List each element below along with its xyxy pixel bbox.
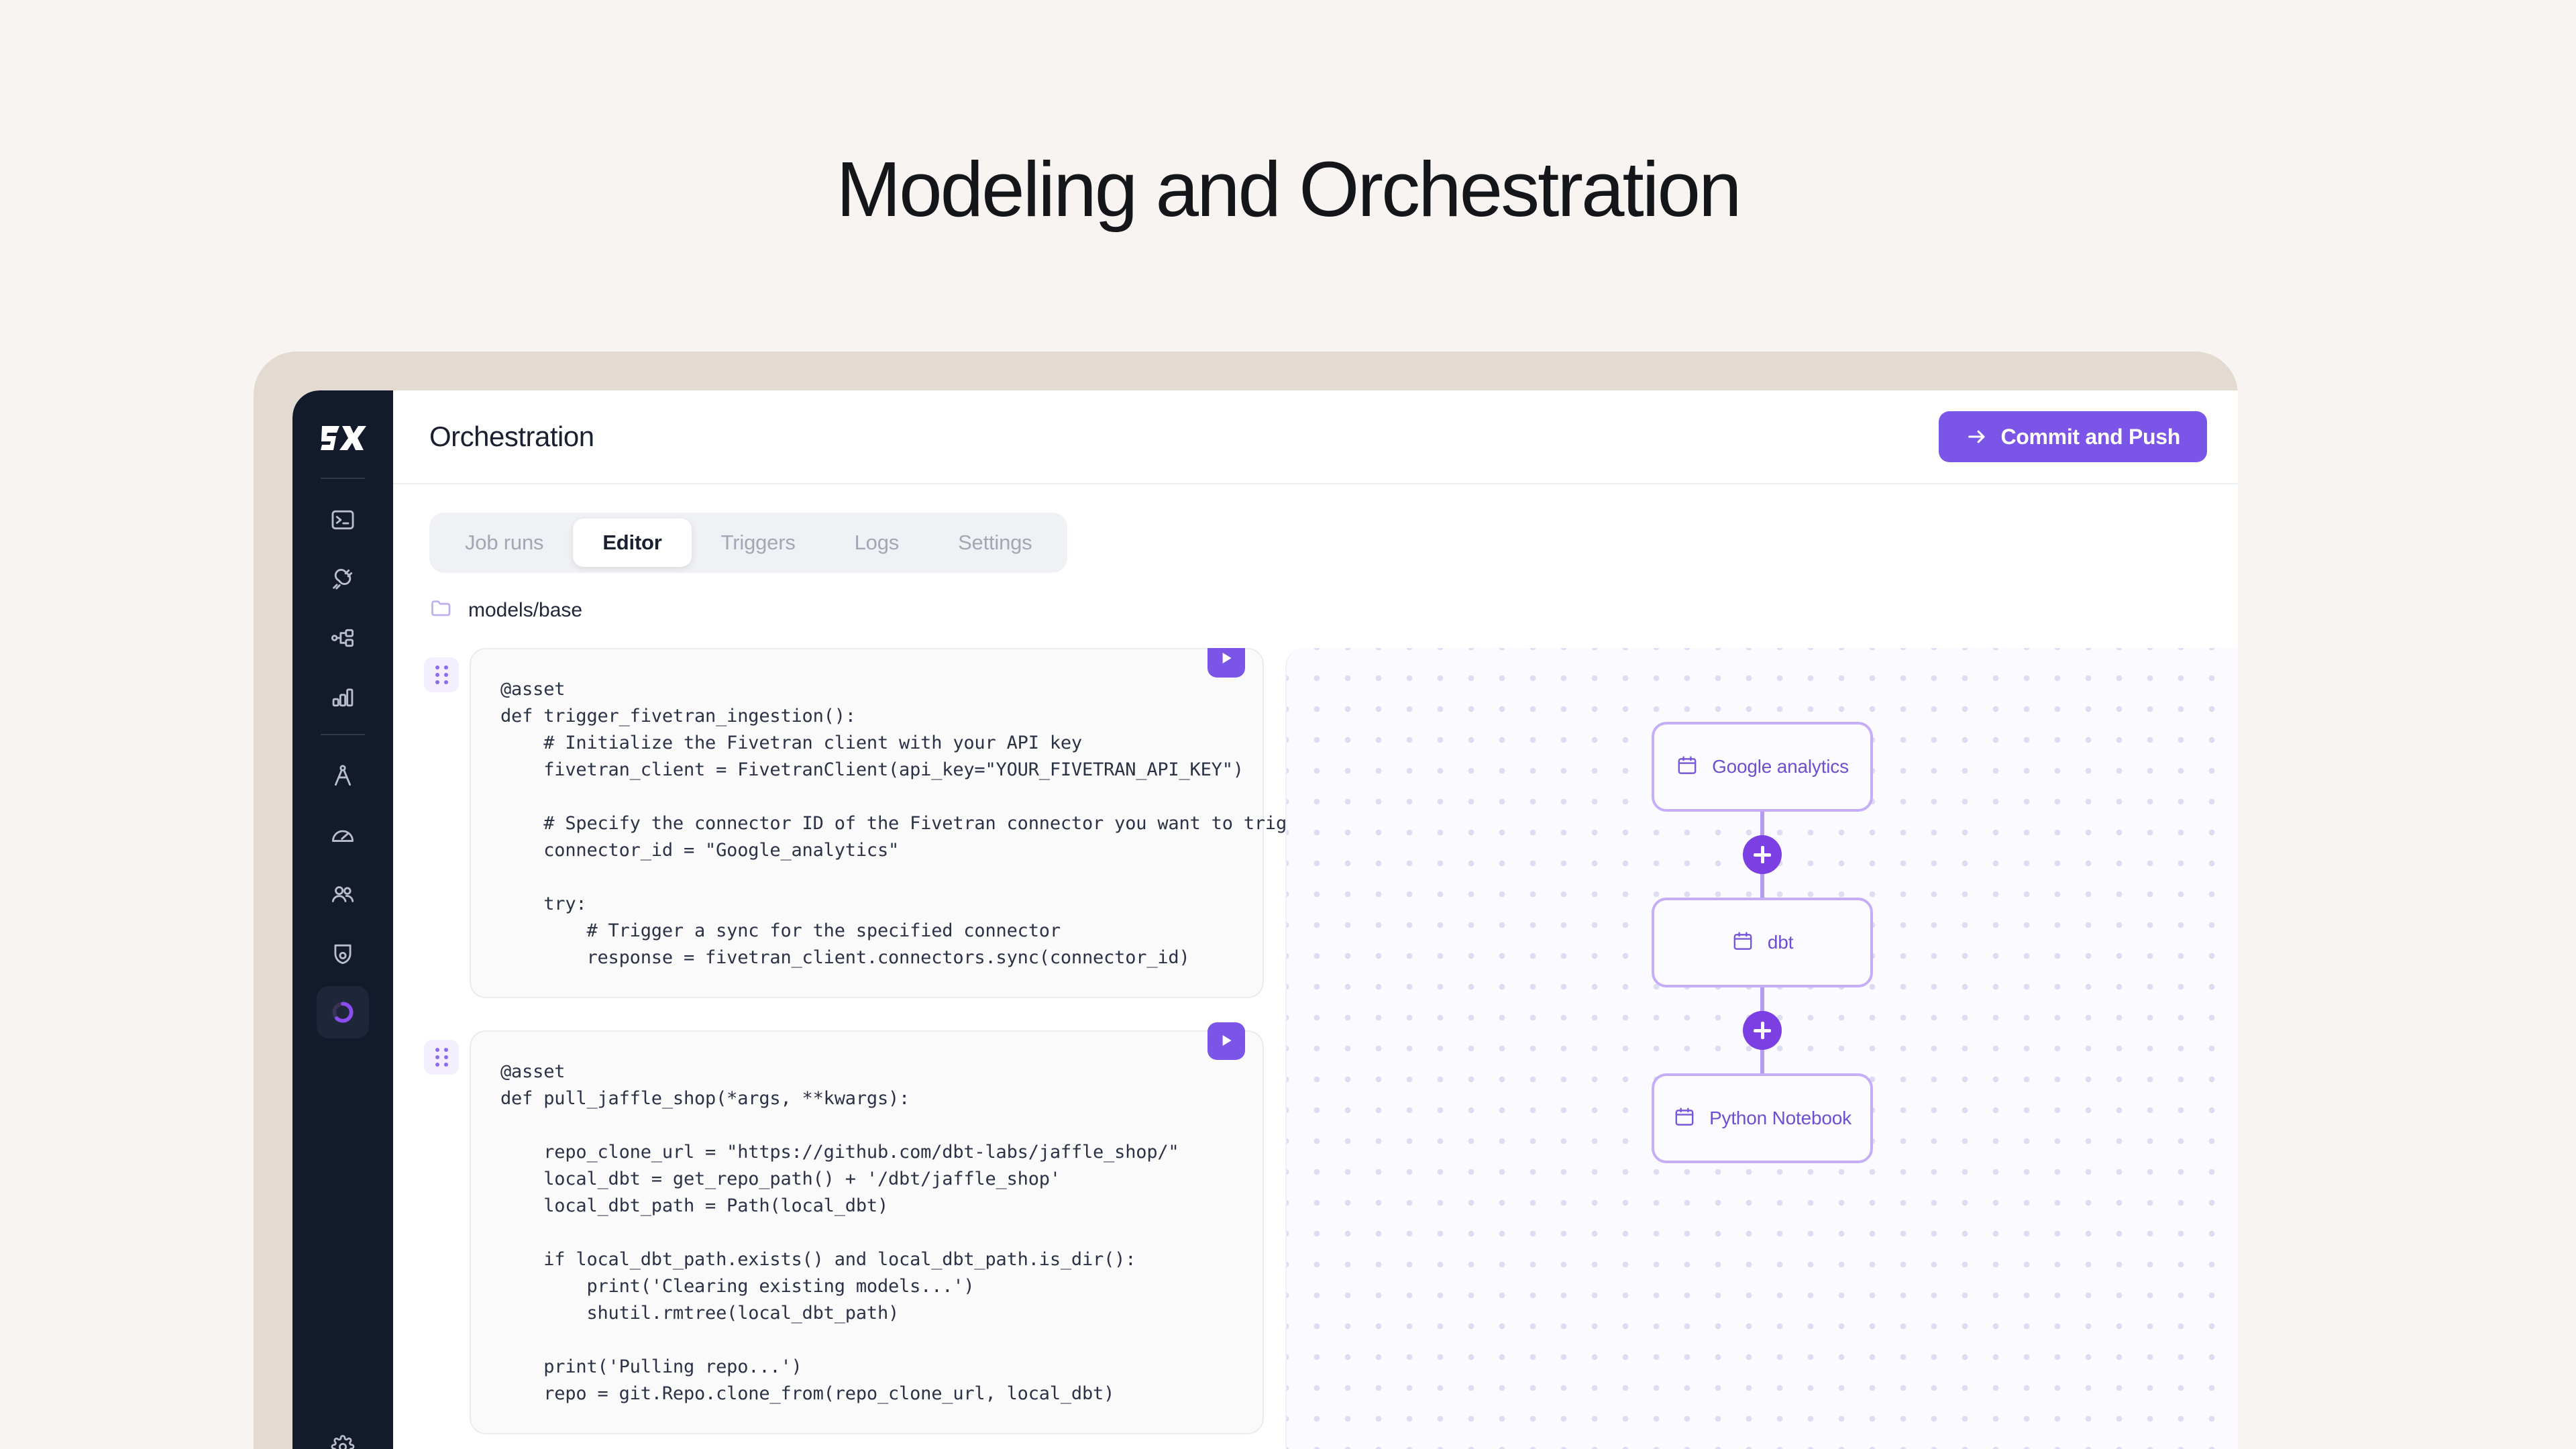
- folder-icon: [429, 596, 453, 625]
- commit-and-push-button[interactable]: Commit and Push: [1939, 411, 2207, 462]
- tab-editor[interactable]: Editor: [573, 519, 691, 567]
- shield-icon: [330, 941, 356, 966]
- commit-button-label: Commit and Push: [2000, 425, 2180, 449]
- flow-node-label: dbt: [1768, 932, 1793, 953]
- flow-node-dbt[interactable]: dbt: [1652, 898, 1873, 987]
- main-content: Orchestration Commit and Push Job runs E…: [393, 390, 2238, 1449]
- gauge-icon: [330, 822, 356, 848]
- sidebar-item-orchestration[interactable]: [317, 986, 369, 1038]
- terminal-icon: [330, 507, 356, 533]
- drag-handle-icon[interactable]: [424, 1040, 459, 1075]
- arrow-right-icon: [1966, 425, 1988, 448]
- play-icon: [1218, 1032, 1235, 1051]
- calendar-icon: [1673, 1106, 1696, 1132]
- editor-pane: @asset def trigger_fivetran_ingestion():…: [393, 648, 1285, 1449]
- code-cell: @asset def pull_jaffle_shop(*args, **kwa…: [424, 1030, 1264, 1434]
- sidebar-item-design[interactable]: [317, 750, 369, 802]
- tab-job-runs[interactable]: Job runs: [435, 519, 573, 567]
- tab-logs[interactable]: Logs: [825, 519, 928, 567]
- sitemap-icon: [330, 625, 356, 651]
- code-cell: @asset def trigger_fivetran_ingestion():…: [424, 648, 1264, 998]
- gear-icon: [331, 1435, 355, 1449]
- flow-node-label: Google analytics: [1712, 756, 1849, 777]
- run-cell-button[interactable]: [1207, 1022, 1245, 1060]
- plug-icon: [330, 566, 356, 592]
- calendar-icon: [1731, 930, 1754, 956]
- sidebar-item-analytics[interactable]: [317, 671, 369, 723]
- code-card[interactable]: @asset def pull_jaffle_shop(*args, **kwa…: [470, 1030, 1264, 1434]
- flow-node-label: Python Notebook: [1709, 1108, 1851, 1129]
- sidebar-rail: [292, 390, 393, 1449]
- breadcrumb[interactable]: models/base: [393, 573, 2238, 625]
- app-window: Orchestration Commit and Push Job runs E…: [292, 390, 2238, 1449]
- flow-graph: Google analytics: [1652, 722, 1873, 1163]
- sidebar-item-users[interactable]: [317, 868, 369, 920]
- add-node-button[interactable]: [1743, 835, 1782, 874]
- sidebar-item-terminal[interactable]: [317, 494, 369, 546]
- top-bar: Orchestration Commit and Push: [393, 390, 2238, 484]
- rail-divider-middle: [321, 734, 365, 735]
- calendar-icon: [1676, 754, 1699, 780]
- tab-settings[interactable]: Settings: [928, 519, 1061, 567]
- tab-triggers[interactable]: Triggers: [692, 519, 825, 567]
- sidebar-item-modeling[interactable]: [317, 612, 369, 664]
- page-heading: Orchestration: [429, 421, 594, 453]
- page-title: Modeling and Orchestration: [0, 145, 2576, 234]
- compass-icon: [330, 763, 356, 789]
- breadcrumb-path: models/base: [468, 599, 582, 622]
- bar-chart-icon: [330, 684, 356, 710]
- sidebar-item-connectors[interactable]: [317, 553, 369, 605]
- tab-bar: Job runs Editor Triggers Logs Settings: [429, 513, 1067, 573]
- tabs-container: Job runs Editor Triggers Logs Settings: [393, 484, 2238, 573]
- sidebar-bottom-group: [292, 1421, 393, 1449]
- flow-connector: [1760, 802, 1764, 907]
- app-logo[interactable]: [317, 420, 369, 456]
- users-icon: [330, 881, 356, 907]
- sidebar-item-security[interactable]: [317, 927, 369, 979]
- device-frame: Orchestration Commit and Push Job runs E…: [254, 352, 2238, 1449]
- code-card[interactable]: @asset def trigger_fivetran_ingestion():…: [470, 648, 1264, 998]
- code-content: @asset def trigger_fivetran_ingestion():…: [500, 676, 1233, 971]
- add-node-button[interactable]: [1743, 1011, 1782, 1050]
- play-icon: [1218, 649, 1235, 669]
- flow-canvas[interactable]: Google analytics: [1285, 648, 2238, 1449]
- run-cell-button[interactable]: [1207, 648, 1245, 678]
- sidebar-item-performance[interactable]: [317, 809, 369, 861]
- workspace: @asset def trigger_fivetran_ingestion():…: [393, 625, 2238, 1449]
- sidebar-item-settings[interactable]: [317, 1421, 369, 1449]
- code-content: @asset def pull_jaffle_shop(*args, **kwa…: [500, 1059, 1233, 1407]
- flow-node-python-notebook[interactable]: Python Notebook: [1652, 1073, 1873, 1163]
- flow-connector: [1760, 978, 1764, 1083]
- flow-node-google-analytics[interactable]: Google analytics: [1652, 722, 1873, 812]
- donut-icon: [329, 999, 356, 1026]
- drag-handle-icon[interactable]: [424, 657, 459, 692]
- rail-divider-top: [321, 478, 365, 479]
